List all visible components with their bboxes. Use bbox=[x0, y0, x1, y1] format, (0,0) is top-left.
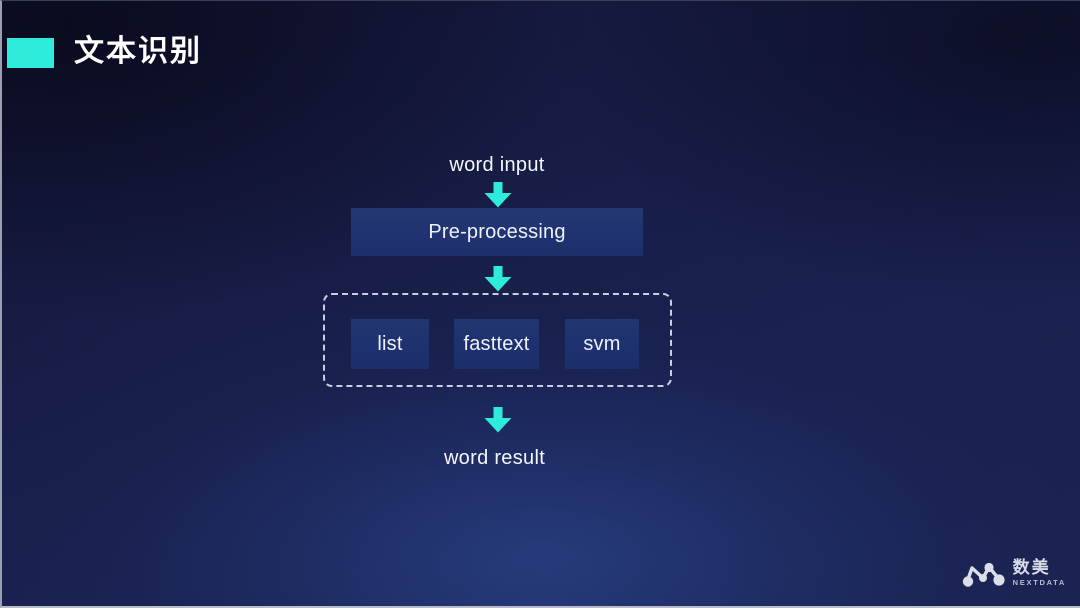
brand-name: 数美 bbox=[1013, 559, 1051, 577]
brand-logo-text: 数美 NEXTDATA bbox=[1013, 559, 1066, 588]
arrow-down-icon bbox=[483, 266, 513, 292]
slide-header: 文本识别 bbox=[2, 1, 1080, 101]
flow-node-word-input: word input bbox=[2, 154, 992, 177]
slide-canvas: 文本识别 word input Pre-processing list fast… bbox=[0, 0, 1080, 608]
flow-node-svm: svm bbox=[565, 319, 639, 369]
brand-logo: 数美 NEXTDATA bbox=[962, 559, 1066, 588]
flow-node-fasttext: fasttext bbox=[454, 319, 539, 369]
flow-node-pre-processing: Pre-processing bbox=[351, 208, 643, 256]
flow-node-word-result: word result bbox=[2, 447, 987, 470]
arrow-down-icon bbox=[483, 182, 513, 208]
brand-subtitle: NEXTDATA bbox=[1013, 578, 1066, 588]
page-title: 文本识别 bbox=[74, 32, 202, 72]
node-graph-icon bbox=[962, 561, 1006, 587]
accent-bar bbox=[7, 38, 54, 68]
arrow-down-icon bbox=[483, 407, 513, 433]
flow-node-list: list bbox=[351, 319, 429, 369]
